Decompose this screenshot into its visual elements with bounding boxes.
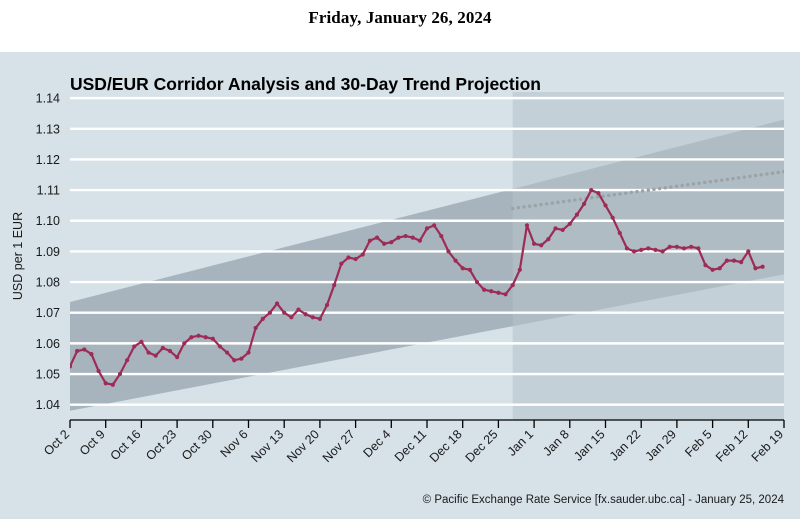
series-data-point xyxy=(96,369,100,373)
x-axis-tick-label: Jan 8 xyxy=(540,427,572,459)
series-data-point xyxy=(461,266,465,270)
series-data-point xyxy=(389,240,393,244)
series-data-point xyxy=(632,249,636,253)
series-data-point xyxy=(239,357,243,361)
series-data-point xyxy=(304,312,308,316)
series-data-point xyxy=(89,352,93,356)
x-axis-tick-label: Dec 4 xyxy=(360,427,393,460)
x-axis-tick-label: Nov 13 xyxy=(248,427,286,465)
series-data-point xyxy=(425,226,429,230)
series-data-point xyxy=(196,334,200,338)
series-data-point xyxy=(661,249,665,253)
series-data-point xyxy=(104,381,108,385)
series-data-point xyxy=(646,246,650,250)
series-data-point xyxy=(625,246,629,250)
series-data-point xyxy=(589,188,593,192)
series-data-point xyxy=(182,341,186,345)
series-data-point xyxy=(753,266,757,270)
series-data-point xyxy=(682,246,686,250)
series-data-point xyxy=(225,350,229,354)
series-data-point xyxy=(582,202,586,206)
y-axis-tick-labels: 1.041.051.061.071.081.091.101.111.121.13… xyxy=(36,92,60,413)
x-axis-tick-label: Oct 30 xyxy=(179,427,215,463)
series-data-point xyxy=(711,268,715,272)
y-axis-tick-label: 1.10 xyxy=(36,214,60,228)
series-data-point xyxy=(268,311,272,315)
series-data-point xyxy=(539,243,543,247)
series-data-point xyxy=(639,248,643,252)
x-axis-tick-label: Nov 20 xyxy=(284,427,322,465)
series-data-point xyxy=(725,258,729,262)
series-data-point xyxy=(346,255,350,259)
x-axis-tick-label: Dec 11 xyxy=(392,427,429,464)
series-data-point xyxy=(82,347,86,351)
forecast-region xyxy=(513,92,784,420)
series-data-point xyxy=(139,340,143,344)
copyright-credit: © Pacific Exchange Rate Service [fx.saud… xyxy=(423,494,785,506)
series-data-point xyxy=(375,236,379,240)
series-data-point xyxy=(289,315,293,319)
series-data-point xyxy=(618,231,622,235)
series-data-point xyxy=(482,288,486,292)
series-data-point xyxy=(561,228,565,232)
page-title: Friday, January 26, 2024 xyxy=(0,8,800,28)
series-data-point xyxy=(689,245,693,249)
series-data-point xyxy=(596,191,600,195)
series-data-point xyxy=(653,248,657,252)
exchange-rate-chart: 1.041.051.061.071.081.091.101.111.121.13… xyxy=(0,52,800,519)
y-axis-tick-label: 1.09 xyxy=(36,245,60,259)
x-axis-tick-label: Oct 23 xyxy=(143,427,179,463)
series-data-point xyxy=(318,317,322,321)
series-data-point xyxy=(760,265,764,269)
series-data-point xyxy=(325,303,329,307)
series-data-point xyxy=(403,234,407,238)
series-data-point xyxy=(125,358,129,362)
series-data-point xyxy=(489,289,493,293)
x-axis-tick-label: Dec 18 xyxy=(427,427,465,465)
y-axis-tick-label: 1.11 xyxy=(37,184,60,198)
series-data-point xyxy=(296,308,300,312)
series-data-point xyxy=(553,226,557,230)
x-axis-tick-label: Feb 12 xyxy=(713,427,750,464)
series-data-point xyxy=(204,335,208,339)
y-axis-tick-label: 1.04 xyxy=(36,398,60,412)
x-axis-tick-label: Oct 2 xyxy=(41,427,72,458)
series-data-point xyxy=(511,283,515,287)
series-data-point xyxy=(132,344,136,348)
y-axis-title: USD per 1 EUR xyxy=(11,212,25,300)
series-data-point xyxy=(211,337,215,341)
series-data-point xyxy=(246,350,250,354)
chart-page: Friday, January 26, 2024 1.041.051.061.0… xyxy=(0,0,800,519)
series-data-point xyxy=(111,383,115,387)
series-data-point xyxy=(503,292,507,296)
series-data-point xyxy=(546,237,550,241)
y-axis-tick-label: 1.08 xyxy=(36,276,60,290)
x-axis-tick-labels: Oct 2Oct 9Oct 16Oct 23Oct 30Nov 6Nov 13N… xyxy=(41,427,786,465)
series-data-point xyxy=(732,258,736,262)
x-axis-tick-label: Nov 27 xyxy=(320,427,358,465)
series-data-point xyxy=(275,301,279,305)
series-data-point xyxy=(468,268,472,272)
series-data-point xyxy=(339,262,343,266)
series-data-point xyxy=(332,283,336,287)
series-data-point xyxy=(232,358,236,362)
series-data-point xyxy=(432,223,436,227)
series-data-point xyxy=(739,260,743,264)
series-data-point xyxy=(668,245,672,249)
y-axis-tick-label: 1.07 xyxy=(36,306,60,320)
y-axis-tick-label: 1.05 xyxy=(36,368,60,382)
series-data-point xyxy=(496,291,500,295)
chart-title: USD/EUR Corridor Analysis and 30-Day Tre… xyxy=(70,74,541,94)
series-data-point xyxy=(382,242,386,246)
series-data-point xyxy=(118,372,122,376)
x-axis-tick-label: Jan 15 xyxy=(571,427,607,463)
series-data-point xyxy=(68,364,72,368)
series-data-point xyxy=(446,249,450,253)
series-data-point xyxy=(746,249,750,253)
series-data-point xyxy=(525,223,529,227)
series-data-point xyxy=(532,242,536,246)
series-data-point xyxy=(568,222,572,226)
series-data-point xyxy=(418,239,422,243)
series-data-point xyxy=(218,344,222,348)
series-data-point xyxy=(261,317,265,321)
series-data-point xyxy=(161,346,165,350)
series-data-point xyxy=(75,349,79,353)
series-data-point xyxy=(703,263,707,267)
x-axis-tick-label: Oct 16 xyxy=(108,427,144,463)
series-data-point xyxy=(361,252,365,256)
series-data-point xyxy=(518,268,522,272)
x-axis-ticks xyxy=(70,420,784,428)
y-axis-tick-label: 1.14 xyxy=(36,92,60,106)
series-data-point xyxy=(311,315,315,319)
x-axis-tick-label: Jan 1 xyxy=(505,427,537,459)
forecast-region-group xyxy=(513,92,784,420)
series-data-point xyxy=(439,234,443,238)
x-axis-tick-label: Dec 25 xyxy=(463,427,501,465)
series-data-point xyxy=(718,266,722,270)
series-data-point xyxy=(189,335,193,339)
series-data-point xyxy=(603,203,607,207)
y-axis-tick-label: 1.13 xyxy=(36,122,60,136)
series-data-point xyxy=(475,280,479,284)
series-data-point xyxy=(696,246,700,250)
series-data-point xyxy=(453,258,457,262)
series-data-point xyxy=(575,213,579,217)
x-axis-tick-label: Nov 6 xyxy=(218,427,251,460)
series-data-point xyxy=(146,350,150,354)
series-data-point xyxy=(282,311,286,315)
series-data-point xyxy=(254,326,258,330)
series-data-point xyxy=(154,354,158,358)
series-data-point xyxy=(175,355,179,359)
series-data-point xyxy=(168,349,172,353)
x-axis-tick-label: Jan 29 xyxy=(643,427,679,463)
y-axis-tick-label: 1.06 xyxy=(36,337,60,351)
y-axis-tick-label: 1.12 xyxy=(36,153,60,167)
x-axis-tick-label: Feb 5 xyxy=(682,427,715,460)
series-data-point xyxy=(411,236,415,240)
x-axis-tick-label: Jan 22 xyxy=(607,427,643,463)
x-axis-tick-label: Feb 19 xyxy=(749,427,786,464)
series-data-point xyxy=(368,239,372,243)
x-axis-tick-label: Oct 9 xyxy=(77,427,108,458)
series-data-point xyxy=(354,257,358,261)
chart-panel: 1.041.051.061.071.081.091.101.111.121.13… xyxy=(0,52,800,519)
series-data-point xyxy=(396,236,400,240)
series-data-point xyxy=(675,245,679,249)
series-data-point xyxy=(611,216,615,220)
